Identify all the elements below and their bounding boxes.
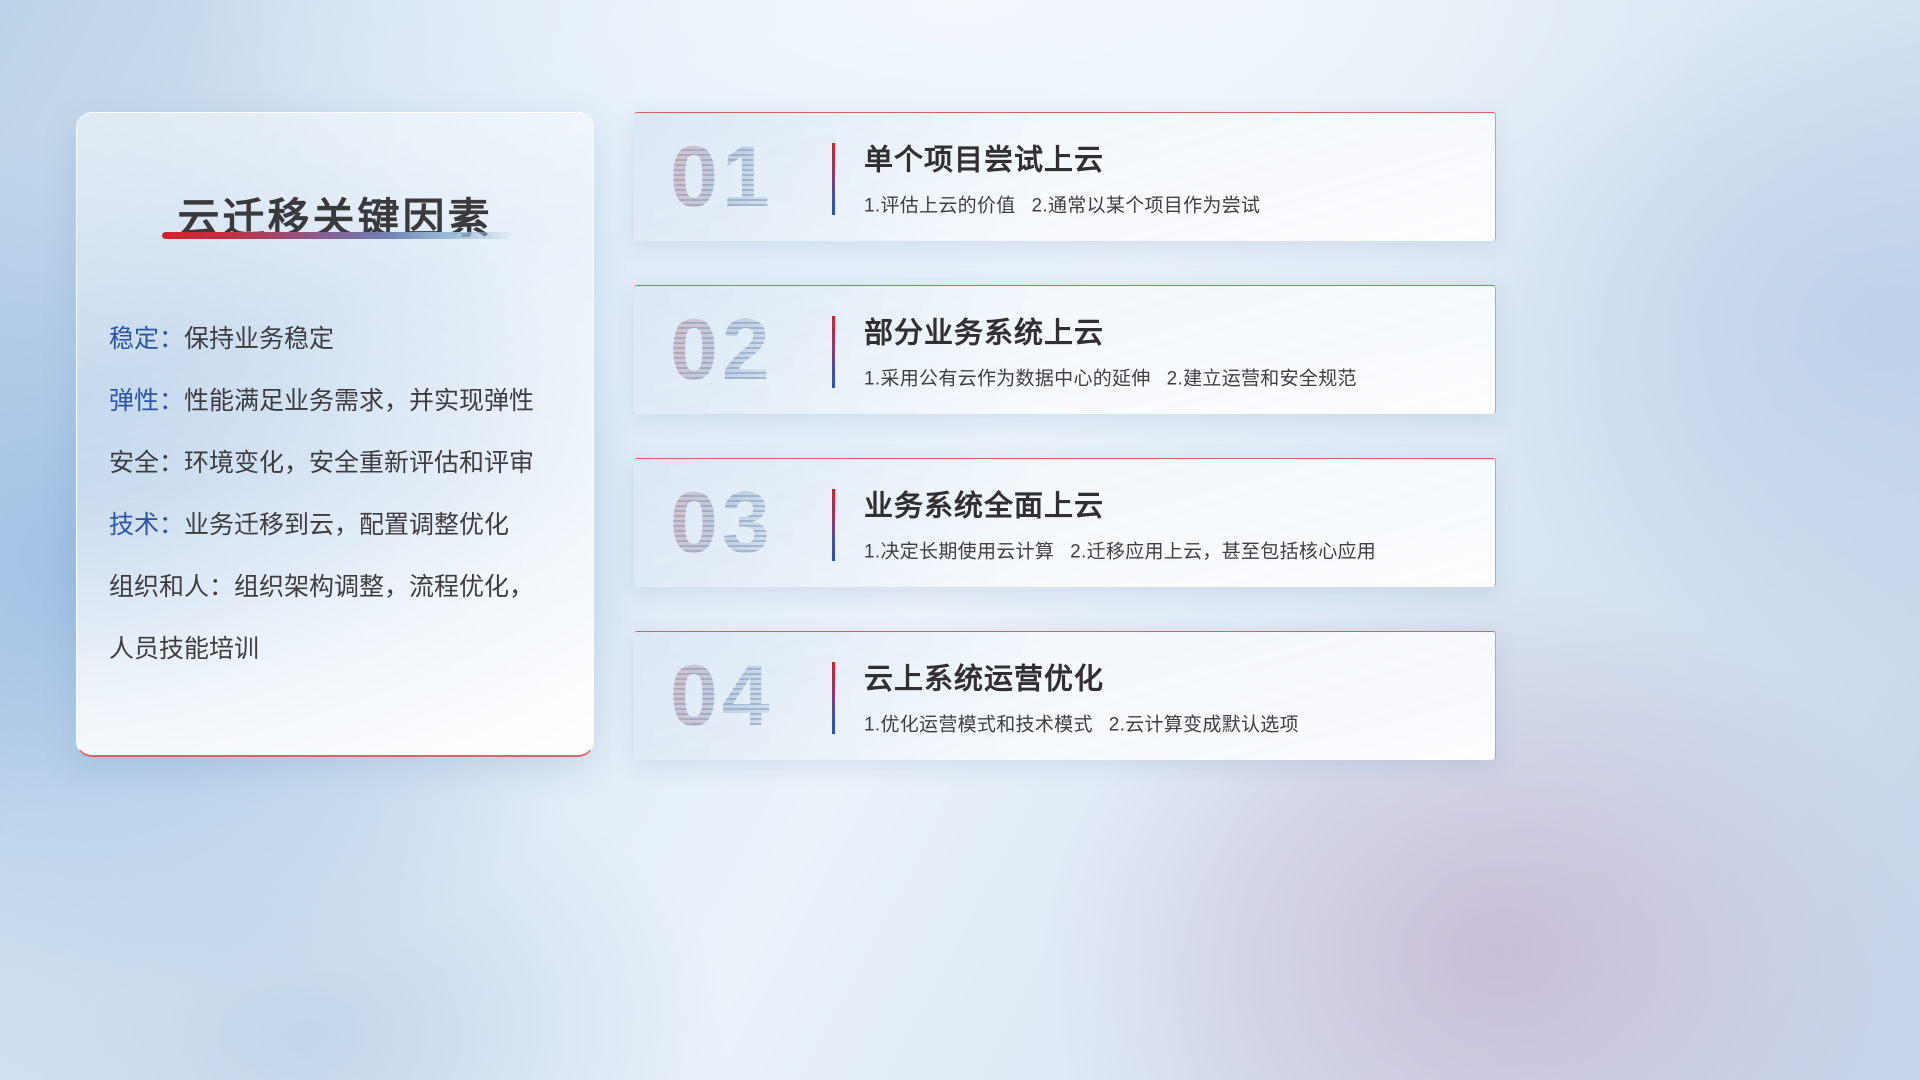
card-heading: 部分业务系统上云	[864, 310, 1471, 352]
factor-label: 弹性：	[109, 387, 184, 415]
factor-item-elasticity: 弹性：性能满足业务需求，并实现弹性	[109, 370, 569, 432]
stage-card-01[interactable]: 01 单个项目尝试上云 1.评估上云的价值2.通常以某个项目作为尝试	[634, 112, 1496, 241]
stage-card-04[interactable]: 04 云上系统运营优化 1.优化运营模式和技术模式2.云计算变成默认选项	[634, 631, 1496, 760]
factor-item-organization: 组织和人：组织架构调整，流程优化，	[109, 556, 569, 618]
card-description-part-2: 2.通常以某个项目作为尝试	[1032, 196, 1261, 217]
card-description: 1.优化运营模式和技术模式2.云计算变成默认选项	[864, 710, 1471, 737]
card-heading: 单个项目尝试上云	[864, 137, 1471, 179]
factor-label: 技术：	[109, 511, 184, 539]
card-description-part-2: 2.建立运营和安全规范	[1167, 369, 1357, 390]
card-divider	[832, 489, 835, 561]
card-divider	[832, 662, 835, 734]
card-description-part-1: 1.评估上云的价值	[864, 196, 1016, 217]
card-body: 云上系统运营优化 1.优化运营模式和技术模式2.云计算变成默认选项	[864, 656, 1471, 737]
card-description: 1.评估上云的价值2.通常以某个项目作为尝试	[864, 191, 1471, 218]
slide-stage: 云迁移关键因素 稳定：保持业务稳定 弹性：性能满足业务需求，并实现弹性 安全：环…	[0, 0, 1920, 1080]
card-description: 1.决定长期使用云计算2.迁移应用上云，甚至包括核心应用	[864, 537, 1471, 564]
card-divider	[832, 316, 835, 388]
factor-text: 保持业务稳定	[184, 325, 334, 353]
stage-number: 03	[670, 480, 774, 566]
stage-card-02[interactable]: 02 部分业务系统上云 1.采用公有云作为数据中心的延伸2.建立运营和安全规范	[634, 285, 1496, 414]
key-factors-panel: 云迁移关键因素 稳定：保持业务稳定 弹性：性能满足业务需求，并实现弹性 安全：环…	[76, 112, 594, 757]
stage-card-03[interactable]: 03 业务系统全面上云 1.决定长期使用云计算2.迁移应用上云，甚至包括核心应用	[634, 458, 1496, 587]
stage-number: 02	[670, 307, 774, 393]
factor-text: 人员技能培训	[109, 635, 259, 663]
factor-label: 稳定：	[109, 325, 184, 353]
factor-item-organization-cont: 人员技能培训	[109, 618, 569, 680]
factor-text: 环境变化，安全重新评估和评审	[184, 449, 534, 477]
factor-label: 安全：	[109, 449, 184, 477]
card-description: 1.采用公有云作为数据中心的延伸2.建立运营和安全规范	[864, 364, 1471, 391]
factor-text: 性能满足业务需求，并实现弹性	[184, 387, 534, 415]
factor-item-stability: 稳定：保持业务稳定	[109, 308, 569, 370]
card-description-part-2: 2.迁移应用上云，甚至包括核心应用	[1070, 542, 1376, 563]
card-body: 部分业务系统上云 1.采用公有云作为数据中心的延伸2.建立运营和安全规范	[864, 310, 1471, 391]
card-heading: 业务系统全面上云	[864, 483, 1471, 525]
card-description-part-1: 1.决定长期使用云计算	[864, 542, 1054, 563]
factor-item-technology: 技术：业务迁移到云，配置调整优化	[109, 494, 569, 556]
card-body: 单个项目尝试上云 1.评估上云的价值2.通常以某个项目作为尝试	[864, 137, 1471, 218]
card-description-part-1: 1.采用公有云作为数据中心的延伸	[864, 369, 1151, 390]
migration-stage-cards: 01 单个项目尝试上云 1.评估上云的价值2.通常以某个项目作为尝试 02 部分…	[634, 112, 1496, 804]
factor-text: 业务迁移到云，配置调整优化	[184, 511, 509, 539]
factor-text: 组织架构调整，流程优化，	[234, 573, 534, 601]
factor-item-security: 安全：环境变化，安全重新评估和评审	[109, 432, 569, 494]
card-heading: 云上系统运营优化	[864, 656, 1471, 698]
factor-list: 稳定：保持业务稳定 弹性：性能满足业务需求，并实现弹性 安全：环境变化，安全重新…	[109, 308, 569, 680]
card-body: 业务系统全面上云 1.决定长期使用云计算2.迁移应用上云，甚至包括核心应用	[864, 483, 1471, 564]
card-description-part-1: 1.优化运营模式和技术模式	[864, 715, 1093, 736]
title-gradient-rule	[162, 232, 512, 239]
stage-number: 04	[670, 653, 774, 739]
factor-label: 组织和人：	[109, 573, 234, 601]
card-divider	[832, 143, 835, 215]
stage-number: 01	[670, 134, 774, 220]
card-description-part-2: 2.云计算变成默认选项	[1109, 715, 1299, 736]
